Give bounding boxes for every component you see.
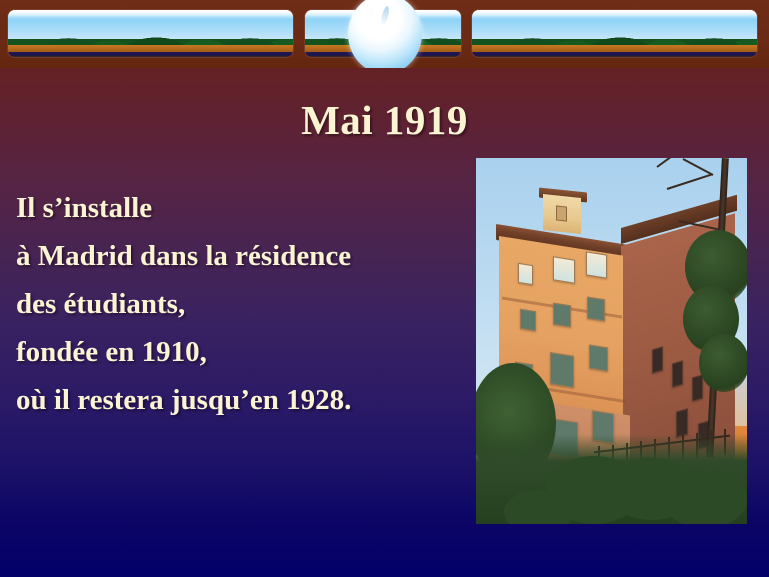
body-line-4: fondée en 1910, <box>16 328 468 376</box>
slide-body-text: Il s’installe à Madrid dans la résidence… <box>16 184 468 424</box>
panel-waterline <box>472 52 757 57</box>
residencia-de-estudiantes-photo: GD <box>476 158 747 524</box>
photo-window <box>692 374 703 401</box>
landscape-panel-right <box>472 10 757 57</box>
photo-window <box>672 360 683 387</box>
photo-tree-foliage <box>699 334 747 392</box>
photo-window <box>587 297 605 322</box>
photo-shrub <box>662 470 747 524</box>
photo-window <box>589 344 608 371</box>
photo-window <box>553 303 571 328</box>
photo-window <box>550 352 574 388</box>
slide-title: Mai 1919 <box>0 96 769 144</box>
body-line-5: où il restera jusqu’en 1928. <box>16 376 468 424</box>
photo-window <box>553 256 575 283</box>
panel-waterline <box>8 52 293 57</box>
body-line-1: Il s’installe <box>16 184 468 232</box>
body-line-3: des étudiants, <box>16 280 468 328</box>
sun-orb-icon <box>348 0 422 68</box>
photo-turret-window <box>556 205 567 221</box>
landscape-panel-left <box>8 10 293 57</box>
body-line-2: à Madrid dans la résidence <box>16 232 468 280</box>
photo-window <box>520 309 536 332</box>
photo-window <box>586 251 607 278</box>
photo-window <box>652 346 663 373</box>
presentation-slide: Mai 1919 Il s’installe à Madrid dans la … <box>0 0 769 577</box>
slide-header-banner <box>0 0 769 68</box>
photo-window <box>518 263 533 285</box>
